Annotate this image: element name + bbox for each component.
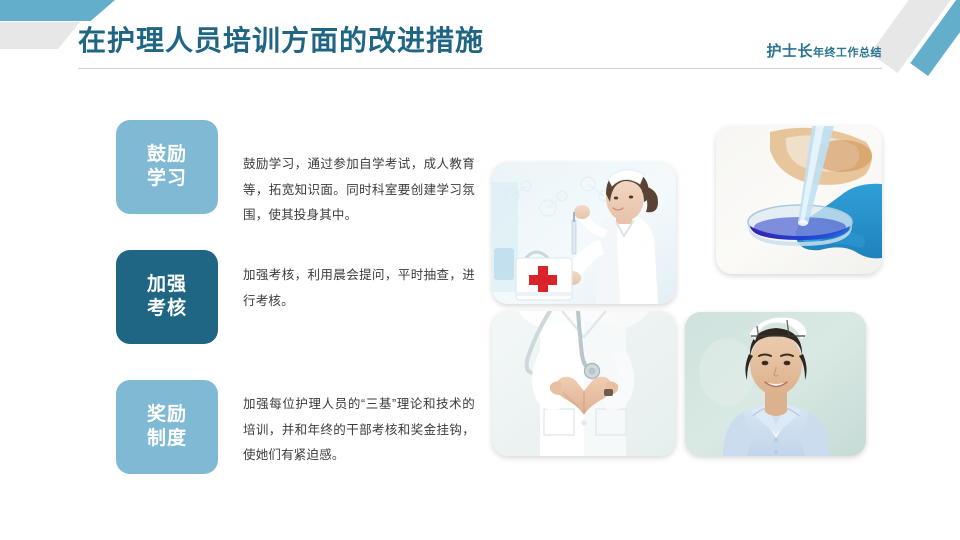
slide-subtitle: 护士长年终工作总结 (766, 44, 882, 60)
photo-nurse-with-first-aid-kit-art (492, 162, 676, 304)
item-description-reward-system: 加强每位护理人员的“三基”理论和技术的培训，并和年终的干部考核和奖金挂钩，使她们… (243, 392, 475, 469)
slide-canvas: 在护理人员培训方面的改进措施 护士长年终工作总结 鼓励 学习 鼓励学习，通过参加… (0, 0, 960, 540)
item-badge-encourage-study: 鼓励 学习 (116, 120, 218, 214)
header-decoration-top-left-blue (0, 0, 115, 21)
title-divider (78, 68, 882, 69)
item-badge-line1: 鼓励 (147, 143, 187, 167)
photo-smiling-nurse-portrait-art (685, 312, 866, 456)
subtitle-main: 护士长 (766, 43, 813, 60)
item-badge-line1: 奖励 (147, 403, 187, 427)
photo-gloved-hand-petri-dish-pipette (716, 126, 882, 274)
item-badge-reward-system: 奖励 制度 (116, 380, 218, 474)
photo-smiling-nurse-portrait (685, 312, 866, 456)
item-badge-line2: 考核 (147, 297, 187, 321)
header-decoration-top-left-gray (0, 22, 80, 49)
slide-title: 在护理人员培训方面的改进措施 (78, 27, 484, 55)
item-description-encourage-study: 鼓励学习，通过参加自学考试，成人教育等，拓宽知识面。同时科室要创建学习氛围，使其… (243, 152, 475, 229)
item-badge-line2: 学习 (147, 167, 187, 191)
item-badge-line2: 制度 (147, 427, 187, 451)
item-description-strengthen-assessment: 加强考核，利用晨会提问，平时抽查，进行考核。 (243, 263, 475, 314)
subtitle-secondary: 年终工作总结 (813, 47, 882, 59)
item-badge-strengthen-assessment: 加强 考核 (116, 250, 218, 344)
photo-doctor-heart-hands (492, 311, 676, 456)
item-badge-line1: 加强 (147, 273, 187, 297)
photo-nurse-with-first-aid-kit (492, 162, 676, 304)
photo-doctor-heart-hands-art (492, 311, 676, 456)
photo-gloved-hand-petri-dish-pipette-art (716, 126, 882, 274)
